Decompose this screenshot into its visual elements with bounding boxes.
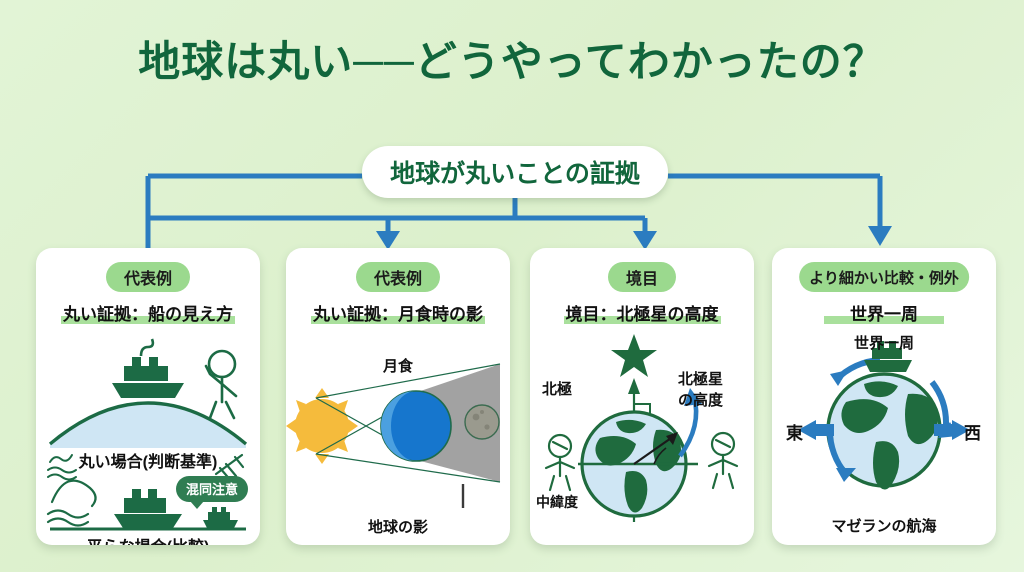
caption-west: 西 (964, 419, 981, 444)
sun-icon (286, 388, 358, 464)
observer-icon-left (546, 435, 574, 490)
caption-earth-shadow: 地球の影 (286, 516, 510, 537)
caption-polaris-altitude-line1: 北極星 (678, 370, 723, 389)
observer-icon-right (709, 433, 737, 488)
ship-icon-flat-near (114, 489, 182, 528)
warning-bubble: 混同注意 (176, 476, 248, 502)
card-badge: 境目 (608, 262, 676, 292)
arrowhead-card4 (868, 226, 892, 246)
card-badge-label: 境目 (626, 265, 658, 289)
card-circumnavigation[interactable]: より細かい比較・例外 世界一周 (772, 248, 996, 545)
wave-icon-large (48, 481, 96, 526)
caption-east: 東 (786, 419, 803, 444)
card-heading: 世界一周 (772, 300, 996, 325)
card-heading: 丸い証拠：船の見え方 (36, 300, 260, 325)
root-node[interactable]: 地球が丸いことの証拠 (362, 146, 668, 198)
caption-polaris-altitude-line2: の高度 (678, 391, 723, 410)
card-badge-label: 代表例 (124, 265, 172, 289)
card-polaris-altitude[interactable]: 境目 境目：北極星の高度 (530, 248, 754, 545)
earth-icon (381, 391, 451, 461)
card-badge: より細かい比較・例外 (799, 262, 969, 292)
card-lunar-eclipse[interactable]: 代表例 丸い証拠：月食時の影 (286, 248, 510, 545)
ship-icon-flat-far (203, 507, 238, 528)
card-ship-visibility[interactable]: 代表例 丸い証拠：船の見え方 (36, 248, 260, 545)
caption-eclipse: 月食 (286, 355, 510, 376)
caption-mid-latitude: 中緯度 (536, 492, 578, 512)
card-illustration (530, 326, 754, 545)
caption-magellan: マゼランの航海 (772, 515, 996, 536)
diagram-canvas: 地球は丸い──どうやってわかったの？ 地球が丸いことの証拠 (0, 0, 1024, 572)
card-heading: 境目：北極星の高度 (530, 300, 754, 325)
card-illustration (36, 326, 260, 545)
card-badge-label: 代表例 (374, 265, 422, 289)
caption-north-pole: 北極 (542, 378, 572, 399)
card-badge: 代表例 (356, 262, 440, 292)
caption-flat-case: 平らな場合(比較) (36, 533, 260, 545)
caption-circumnavigation: 世界一周 (772, 332, 996, 353)
observer-icon (206, 351, 236, 418)
card-badge-label: より細かい比較・例外 (809, 267, 959, 288)
ship-icon-round (112, 339, 184, 398)
round-sea-fill (50, 403, 246, 448)
card-illustration (772, 326, 996, 545)
page-title: 地球は丸い──どうやってわかったの？ (0, 28, 1024, 89)
card-heading: 丸い証拠：月食時の影 (286, 300, 510, 325)
root-node-label: 地球が丸いことの証拠 (390, 154, 640, 190)
caption-round-case: 丸い場合(判断基準) (36, 448, 260, 472)
moon-icon (465, 405, 499, 439)
card-badge: 代表例 (106, 262, 190, 292)
polaris-star-icon (611, 334, 657, 377)
